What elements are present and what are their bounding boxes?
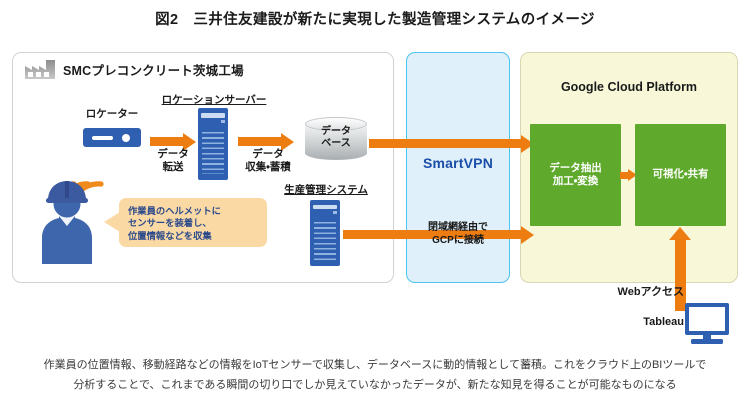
- monitor-icon: [683, 302, 731, 346]
- figure-caption: 作業員の位置情報、移動経路などの情報をIoTセンサーで収集し、データベースに動的…: [0, 355, 750, 396]
- arrow-data-collect-label: データ 収集・蓄積: [228, 148, 308, 174]
- gcp-box-extract-label: データ抽出 加工・変換: [549, 162, 602, 188]
- gcp-box-visualize-label: 可視化・共有: [652, 168, 708, 181]
- location-server-icon: [198, 108, 228, 180]
- gcp-title: Google Cloud Platform: [520, 80, 738, 94]
- database-label: データ ベース: [305, 126, 367, 150]
- callout-sensor-note: 作業員のヘルメットに センサーを装着し、 位置情報などを収集: [119, 198, 267, 247]
- vpn-note: 閉域網経由で GCPに接続: [406, 222, 510, 247]
- worker-icon: [22, 168, 114, 266]
- factory-icon: [24, 58, 56, 80]
- caption-line-2: 分析することで、これまである瞬間の切り口でしか見えていなかったデータが、新たな知…: [0, 375, 750, 395]
- tableau-label: Tableau: [594, 316, 684, 328]
- production-system-icon: [310, 200, 340, 266]
- production-system-label: 生産管理システム: [276, 184, 376, 197]
- callout-tail: [104, 212, 120, 232]
- location-server-label: ロケーションサーバー: [155, 94, 273, 107]
- gcp-box-visualize: 可視化・共有: [635, 124, 726, 226]
- factory-header: SMCプレコンクリート茨城工場: [24, 58, 244, 80]
- locator-bar: [92, 136, 113, 140]
- locator-label: ロケーター: [62, 108, 162, 121]
- locator-dot: [122, 134, 130, 142]
- vpn-title: SmartVPN: [406, 155, 510, 171]
- caption-line-1: 作業員の位置情報、移動経路などの情報をIoTセンサーで収集し、データベースに動的…: [0, 355, 750, 375]
- locator-device-icon: [83, 128, 141, 147]
- gcp-box-extract: データ抽出 加工・変換: [530, 124, 621, 226]
- callout-text: 作業員のヘルメットに センサーを装着し、 位置情報などを収集: [128, 205, 260, 242]
- database-icon: データ ベース: [305, 117, 367, 161]
- figure-title: 図2 三井住友建設が新たに実現した製造管理システムのイメージ: [0, 8, 750, 29]
- arrow-web-access: [675, 239, 686, 311]
- factory-title: SMCプレコンクリート茨城工場: [63, 60, 244, 79]
- web-access-label: Webアクセス: [594, 283, 684, 299]
